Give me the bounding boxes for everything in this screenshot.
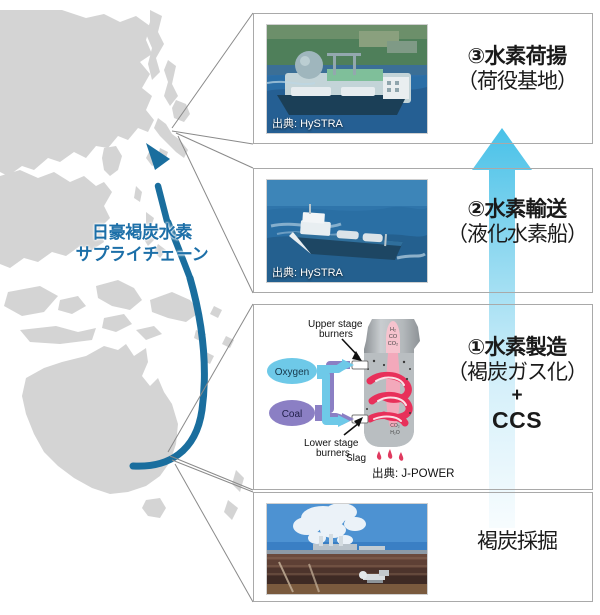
gasifier-image-credit: 出典: J-POWER [372, 465, 454, 481]
map-panel: 日豪褐炭水素 サプライチェーン [0, 0, 250, 615]
plus-sign: + [440, 385, 594, 407]
syngas-co2-label: CO₂ [388, 341, 398, 347]
image-credit: 出典: HySTRA [267, 263, 348, 282]
image-credit: 出典: HySTRA [267, 114, 348, 133]
thumbnail-hydrogen-unloading-terminal: 出典: HySTRA [266, 24, 428, 134]
coal-gasifier-diagram: H₂ CO CO₂ CO₂ H₂O Oxygen C [264, 309, 444, 464]
syngas-co-label: CO [389, 334, 398, 340]
stage-row-brown-coal-mining: 褐炭採掘 [253, 492, 593, 602]
stage-subtitle: 褐炭採掘 [440, 529, 594, 554]
oxygen-label: Oxygen [275, 367, 309, 378]
stage-subtitle: （褐炭ガス化） [440, 360, 594, 385]
stage-number: ③ [467, 45, 484, 68]
stage-row-hydrogen-unloading: 出典: HySTRA ③水素荷揚 （荷役基地） [253, 13, 593, 144]
upper-burner-nozzle [352, 361, 368, 369]
inner-h2o-label: H₂O [390, 430, 400, 436]
stage-label-group: ③水素荷揚 （荷役基地） [440, 44, 594, 94]
supply-chain-label: 日豪褐炭水素 サプライチェーン [52, 222, 232, 266]
lower-burners-label-line2: burners [316, 448, 350, 459]
stage-label-group: ①水素製造 （褐炭ガス化） + CCS [440, 335, 594, 435]
supply-chain-label-line2: サプライチェーン [52, 244, 232, 266]
stage-number: ② [467, 198, 484, 221]
stage-title: ③水素荷揚 [440, 44, 594, 69]
inner-co2-label: CO₂ [390, 423, 400, 429]
stage-title: ①水素製造 [440, 335, 594, 360]
world-map-svg [0, 0, 250, 615]
thumbnail-open-pit-mine [266, 503, 428, 595]
syngas-h2-label: H₂ [390, 327, 396, 333]
stage-label-group: 褐炭採掘 [440, 529, 594, 554]
stage-label-group: ②水素輸送 （液化水素船） [440, 197, 594, 247]
supply-chain-label-line1: 日豪褐炭水素 [52, 222, 232, 244]
thumbnail-liquefied-hydrogen-carrier: 出典: HySTRA [266, 179, 428, 283]
coal-label: Coal [282, 409, 303, 420]
stage-subtitle: （荷役基地） [440, 69, 594, 94]
ccs-label: CCS [440, 407, 594, 435]
stage-subtitle: （液化水素船） [440, 222, 594, 247]
stage-number: ① [467, 336, 484, 359]
open-pit-mine-photo-illustration [267, 504, 427, 594]
stage-row-hydrogen-production: H₂ CO CO₂ CO₂ H₂O Oxygen C [253, 304, 593, 490]
stage-title: ②水素輸送 [440, 197, 594, 222]
slag-label: Slag [346, 453, 366, 464]
upper-burners-label-line2: burners [319, 329, 353, 340]
stage-row-hydrogen-transport: 出典: HySTRA ②水素輸送 （液化水素船） [253, 168, 593, 293]
slag-drops [377, 449, 403, 461]
